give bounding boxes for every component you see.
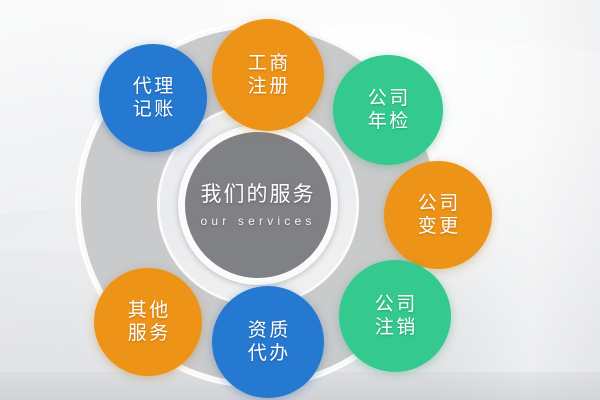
node-label-line2: 记账 bbox=[130, 98, 176, 121]
node-label-line2: 注销 bbox=[372, 316, 418, 339]
hub-title-cn: 我们的服务 bbox=[201, 182, 316, 208]
node-label-line1: 资质 bbox=[245, 319, 291, 342]
node-annual-inspection[interactable]: 公司 年检 bbox=[333, 55, 443, 165]
node-label-line1: 公司 bbox=[415, 192, 461, 215]
node-label-line1: 工商 bbox=[245, 52, 291, 75]
node-business-registration[interactable]: 工商 注册 bbox=[212, 19, 324, 131]
hub-title-en: our services bbox=[200, 214, 315, 228]
node-agency-bookkeeping[interactable]: 代理 记账 bbox=[99, 44, 207, 152]
node-label-line1: 公司 bbox=[372, 293, 418, 316]
node-label-line2: 变更 bbox=[415, 215, 461, 238]
node-other-services[interactable]: 其他 服务 bbox=[94, 268, 202, 376]
node-label-line2: 注册 bbox=[245, 75, 291, 98]
node-label-line2: 代办 bbox=[245, 342, 291, 365]
node-label-line1: 公司 bbox=[365, 87, 411, 110]
node-company-deregistration[interactable]: 公司 注销 bbox=[339, 260, 451, 372]
node-company-change[interactable]: 公司 变更 bbox=[384, 161, 492, 269]
node-label-line2: 年检 bbox=[365, 110, 411, 133]
node-label-line2: 服务 bbox=[125, 322, 171, 345]
service-wheel-infographic: 我们的服务 our services 代理 记账 工商 注册 公司 年检 公司 … bbox=[0, 0, 600, 400]
node-label-line1: 其他 bbox=[125, 299, 171, 322]
node-qualification-agency[interactable]: 资质 代办 bbox=[212, 286, 324, 398]
node-label-line1: 代理 bbox=[130, 75, 176, 98]
center-hub: 我们的服务 our services bbox=[178, 125, 338, 285]
